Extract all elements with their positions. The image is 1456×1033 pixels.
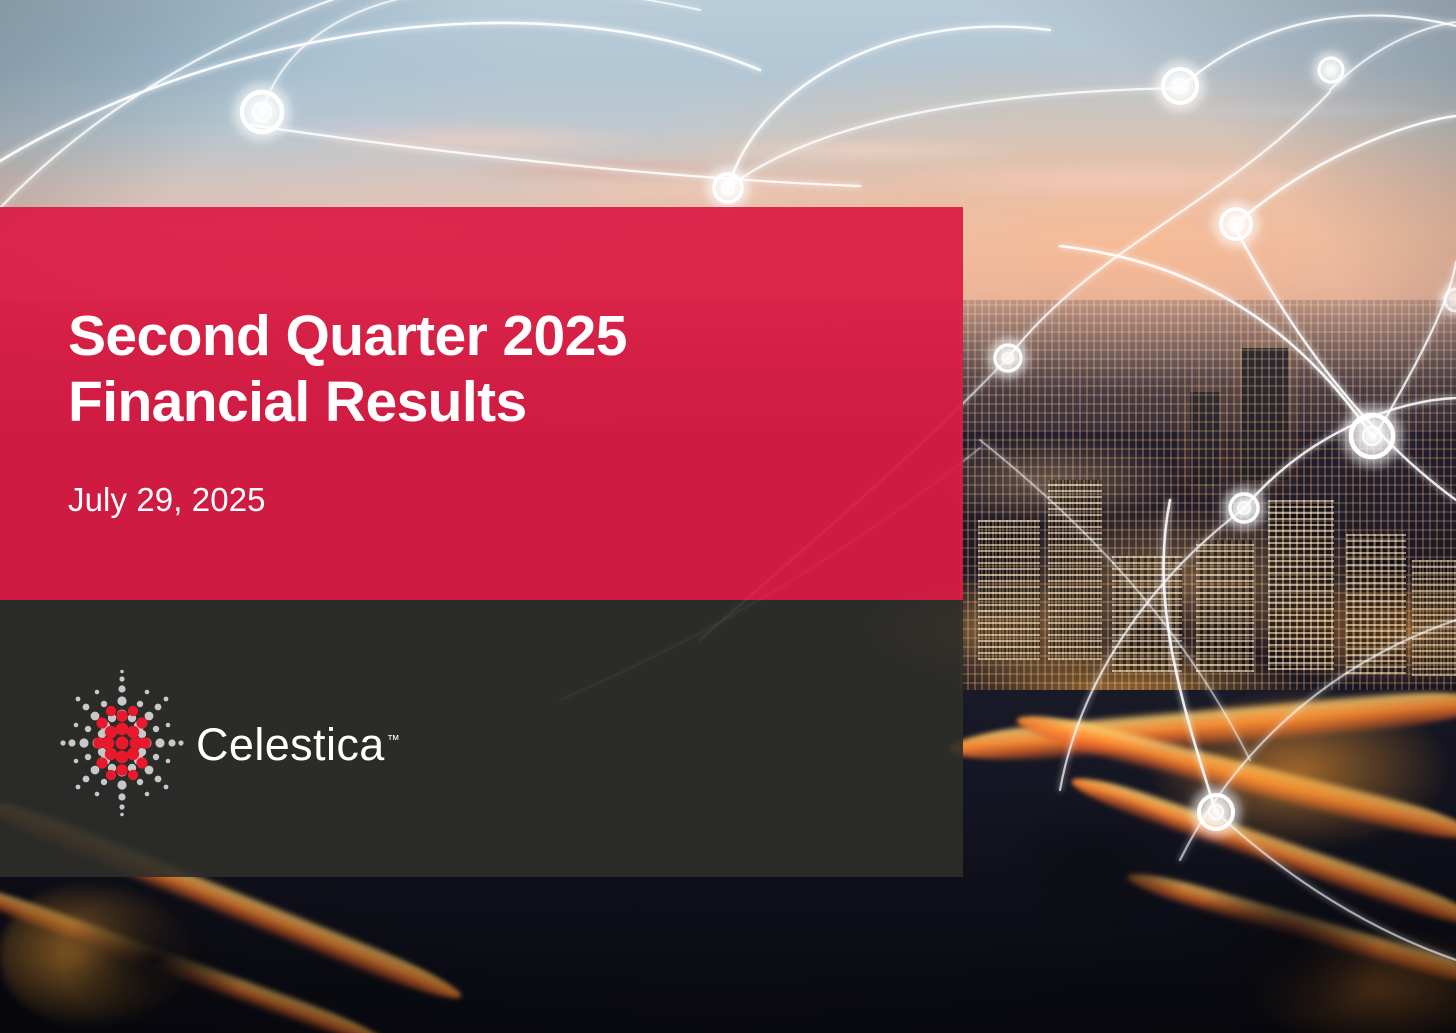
title-slide: Second Quarter 2025 Financial Results Ju… [0, 0, 1456, 1033]
celestica-starburst-icon [58, 668, 186, 818]
title-block: Second Quarter 2025 Financial Results [68, 303, 928, 436]
trademark-symbol: ™ [387, 732, 400, 747]
page-title: Second Quarter 2025 Financial Results [68, 303, 928, 436]
company-logo: Celestica™ [58, 668, 400, 818]
company-wordmark: Celestica™ [196, 720, 400, 767]
presentation-date: July 29, 2025 [68, 481, 266, 519]
company-name: Celestica [196, 719, 385, 770]
